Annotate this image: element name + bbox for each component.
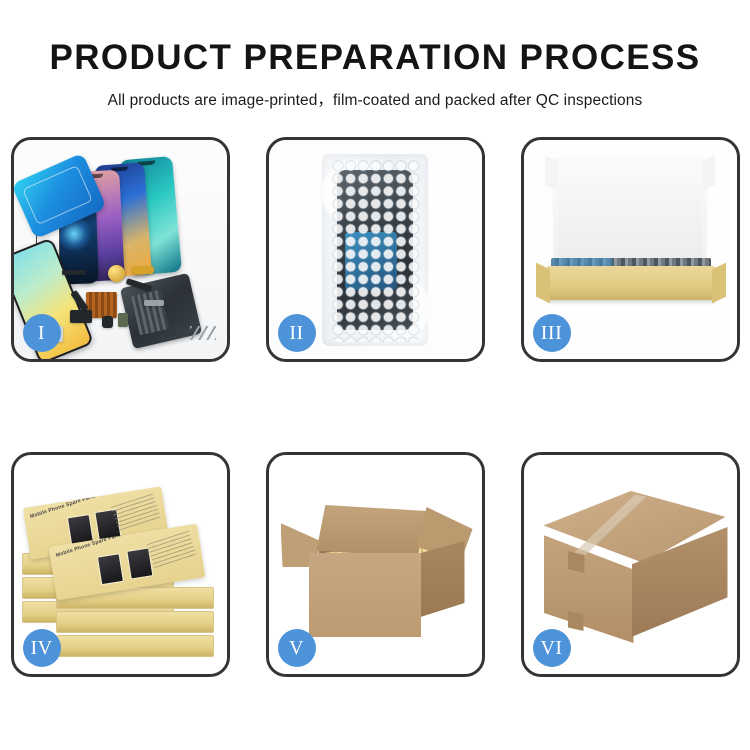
step-panel-4[interactable]: Mobile Phone Spare Parts Mobile Phone Sp… xyxy=(11,452,230,677)
flex-cable-4 xyxy=(70,310,92,323)
process-row-2: Mobile Phone Spare Parts Mobile Phone Sp… xyxy=(0,452,750,677)
carton-flap-back xyxy=(317,505,427,557)
process-row-1: I II III xyxy=(0,137,750,362)
process-step-grid: I II III xyxy=(0,137,750,677)
step-badge-6: VI xyxy=(533,629,571,667)
step-panel-3[interactable]: III xyxy=(521,137,740,362)
retail-box-stack: Mobile Phone Spare Parts Mobile Phone Sp… xyxy=(22,479,222,657)
page-title: PRODUCT PREPARATION PROCESS xyxy=(0,40,750,75)
label-spec-lines-1 xyxy=(110,493,160,531)
step-badge-2: II xyxy=(278,314,316,352)
header: PRODUCT PREPARATION PROCESS All products… xyxy=(0,0,750,110)
step-panel-1[interactable]: I xyxy=(11,137,230,362)
page-subtitle: All products are image-printed，film-coat… xyxy=(0,88,750,110)
label-phone-thumb-3 xyxy=(96,553,123,585)
flex-cable-1 xyxy=(62,270,86,275)
small-part-1 xyxy=(102,316,113,328)
carton-front-face xyxy=(309,553,421,637)
antenna-strip xyxy=(144,300,164,306)
bubble-wrap-bag xyxy=(322,154,428,346)
step-badge-3: III xyxy=(533,314,571,352)
product-preparation-page: PRODUCT PREPARATION PROCESS All products… xyxy=(0,0,750,750)
retail-box-side-6 xyxy=(56,635,214,657)
bubble-texture xyxy=(332,160,420,342)
kraft-box-tray xyxy=(547,266,715,300)
flex-cable-2 xyxy=(132,266,154,274)
foam-liner xyxy=(558,182,702,260)
small-part-2 xyxy=(118,313,128,327)
step-panel-6[interactable]: VI xyxy=(521,452,740,677)
screws-group xyxy=(190,326,216,340)
step-badge-5: V xyxy=(278,629,316,667)
carton-side-face xyxy=(421,541,465,617)
step-panel-5[interactable]: V xyxy=(266,452,485,677)
retail-box-side-5 xyxy=(56,611,214,633)
step-panel-2[interactable]: II xyxy=(266,137,485,362)
label-spec-lines-2 xyxy=(146,531,196,569)
step-badge-4: IV xyxy=(23,629,61,667)
step-badge-1: I xyxy=(23,314,61,352)
gold-coil xyxy=(108,265,125,282)
